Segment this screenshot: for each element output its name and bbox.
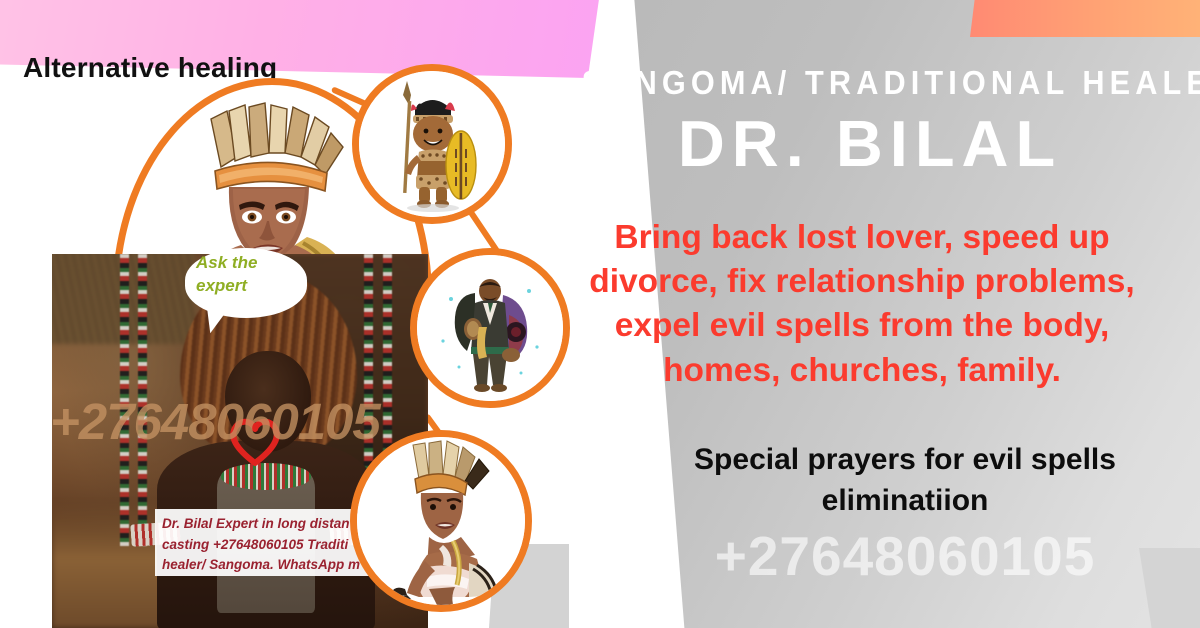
page-title: DR. BILAL (560, 106, 1180, 181)
circle-zulu-warrior-illustration (352, 64, 512, 224)
ask-the-expert-text: Ask the expert (196, 252, 306, 298)
services-line-1: Bring back lost lover, speed up (542, 216, 1182, 260)
services-text: Bring back lost lover, speed up divorce,… (542, 216, 1182, 393)
special-offer-text: Special prayers for evil spells eliminat… (620, 440, 1190, 521)
special-offer-line-2: eliminatiion (620, 481, 1190, 522)
alternative-healing-heading: Alternative healing (23, 52, 277, 84)
caption-line-1: Dr. Bilal Expert in long distan (162, 514, 380, 535)
caption-line-2: casting +27648060105 Traditi (162, 535, 380, 556)
photo-watermark-phone: +27648060105 (50, 392, 380, 451)
services-line-2: divorce, fix relationship problems, (542, 260, 1182, 304)
ghost-phone-number: +27648060105 (620, 524, 1190, 588)
kicker-text: SANGOMA/ TRADITIONAL HEALER (582, 64, 1159, 102)
crouching-healer-icon (357, 437, 525, 605)
caption-line-3: healer/ Sangoma. WhatsApp m (162, 555, 380, 576)
services-line-3: expel evil spells from the body, (542, 304, 1182, 348)
special-offer-line-1: Special prayers for evil spells (620, 440, 1190, 481)
circle-crouching-healer-illustration (350, 430, 532, 612)
poster-canvas: Alternative healing (0, 0, 1200, 628)
services-line-4: homes, churches, family. (542, 349, 1182, 393)
coral-band-shape (970, 0, 1200, 37)
beaded-necklace (221, 463, 311, 489)
zulu-warrior-icon (359, 71, 505, 217)
